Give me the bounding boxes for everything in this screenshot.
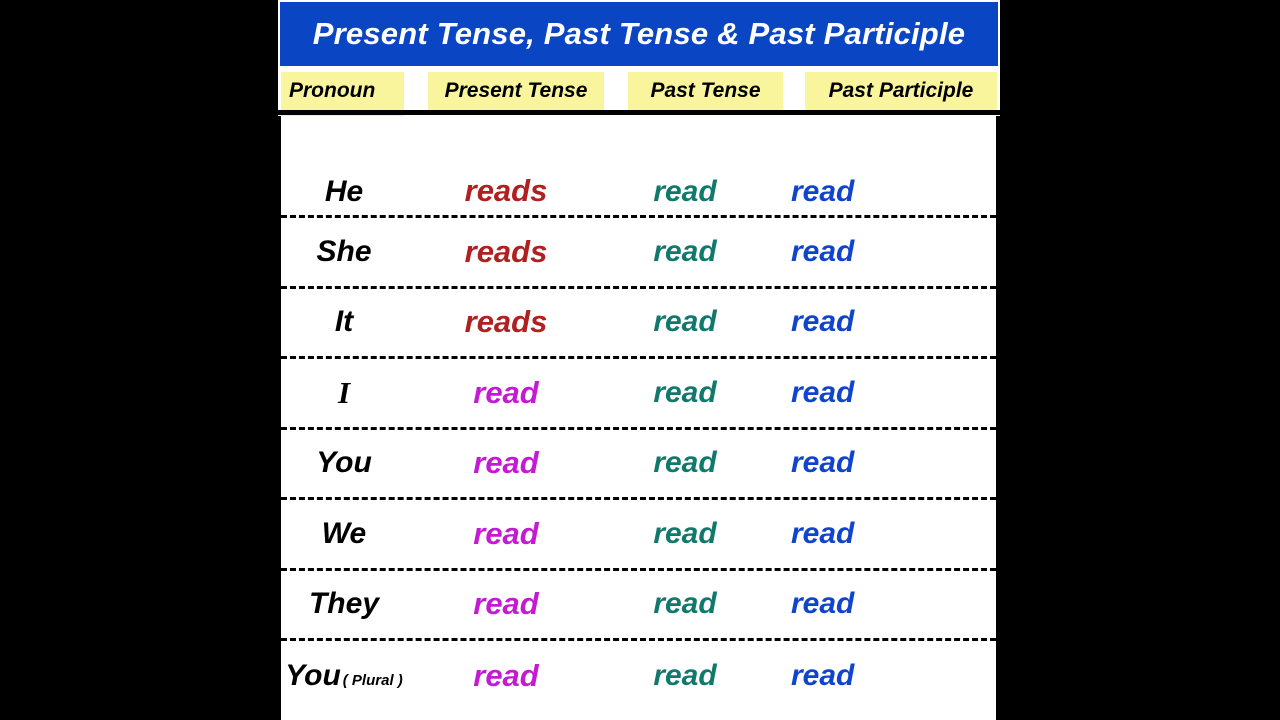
cell-present-tense: read [407,516,605,552]
cell-pronoun: You( Plural ) [281,659,407,693]
column-header-pronoun: Pronoun [281,72,404,110]
table-row: Wereadreadread [281,500,996,571]
pronoun-label: He [325,175,363,209]
cell-pronoun: We [281,517,407,551]
cell-present-tense: read [407,375,605,411]
table-row: Theyreadreadread [281,571,996,642]
cell-past-tense: read [605,659,765,693]
cell-past-participle: read [765,517,995,551]
table-row: You( Plural )readreadread [281,641,996,712]
cell-past-tense: read [605,587,765,621]
cell-past-tense: read [605,175,765,215]
cell-past-tense: read [605,517,765,551]
cell-past-participle: read [765,235,995,269]
table-row: Youreadreadread [281,430,996,501]
pronoun-label: You [316,446,372,480]
cell-present-tense: read [407,658,605,694]
pronoun-label: We [322,517,366,551]
cell-past-participle: read [765,659,995,693]
conjugation-table-body: HereadsreadreadShereadsreadreadItreadsre… [278,116,1000,720]
pronoun-label: They [309,587,379,621]
column-header-past-participle: Past Participle [805,72,997,110]
column-header-past-tense: Past Tense [628,72,783,110]
pronoun-label: You [285,659,341,693]
table-row: Ireadreadread [281,359,996,430]
cell-past-tense: read [605,376,765,410]
cell-past-tense: read [605,235,765,269]
table-row: Itreadsreadread [281,289,996,360]
cell-pronoun: She [281,235,407,269]
cell-past-participle: read [765,446,995,480]
lesson-card: Present Tense, Past Tense & Past Partici… [278,0,1000,720]
cell-pronoun: You [281,446,407,480]
table-row: Shereadsreadread [281,218,996,289]
cell-past-tense: read [605,305,765,339]
column-header-present-tense: Present Tense [428,72,604,110]
cell-present-tense: reads [407,304,605,340]
cell-present-tense: reads [407,173,605,215]
cell-present-tense: reads [407,234,605,270]
cell-pronoun: I [281,375,407,411]
cell-present-tense: read [407,586,605,622]
cell-past-participle: read [765,376,995,410]
pronoun-label: She [316,235,371,269]
table-header-row: Pronoun Present Tense Past Tense Past Pa… [278,68,1000,114]
pronoun-label: I [338,375,350,411]
cell-pronoun: It [281,305,407,339]
page-title: Present Tense, Past Tense & Past Partici… [313,16,965,52]
cell-past-participle: read [765,175,995,215]
cell-past-participle: read [765,587,995,621]
cell-present-tense: read [407,445,605,481]
cell-pronoun: He [281,175,407,215]
table-row: Hereadsreadread [281,116,996,218]
screenshot-stage: Present Tense, Past Tense & Past Partici… [0,0,1280,720]
pronoun-label: It [335,305,353,339]
cell-pronoun: They [281,587,407,621]
cell-past-participle: read [765,305,995,339]
cell-past-tense: read [605,446,765,480]
title-bar: Present Tense, Past Tense & Past Partici… [280,2,998,66]
pronoun-plural-note: ( Plural ) [343,672,403,689]
